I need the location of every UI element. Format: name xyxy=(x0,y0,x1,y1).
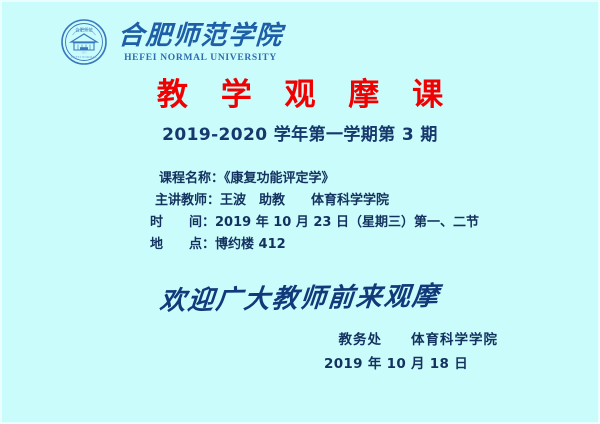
university-logo-header: 合肥师范 HEFEI NORMAL 1955 合肥师范学院 HEFEI NORM… xyxy=(60,18,283,66)
footer-organizations: 教务处 体育科学学院 xyxy=(339,332,499,348)
detail-location: 地 点：博约楼 412 xyxy=(150,234,450,256)
footer-date: 2019 年 10 月 18 日 xyxy=(324,356,498,372)
svg-text:HEFEI NORMAL: HEFEI NORMAL xyxy=(71,55,97,59)
university-seal-icon: 合肥师范 HEFEI NORMAL 1955 xyxy=(60,18,108,66)
detail-instructor: 主讲教师：王波 助教 体育科学学院 xyxy=(145,190,455,212)
notice-poster: 合肥师范 HEFEI NORMAL 1955 合肥师范学院 HEFEI NORM… xyxy=(0,0,600,424)
poster-footer: 教务处 体育科学学院 2019 年 10 月 18 日 xyxy=(2,328,598,376)
footer-org-line: 教务处 体育科学学院 xyxy=(210,328,540,352)
university-name-en: HEFEI NORMAL UNIVERSITY xyxy=(124,54,277,64)
svg-text:合肥师范: 合肥师范 xyxy=(75,26,93,33)
footer-date-line: 2019 年 10 月 18 日 xyxy=(210,352,540,376)
detail-time: 时 间：2019 年 10 月 23 日（星期三）第一、二节 xyxy=(150,212,450,234)
svg-text:1955: 1955 xyxy=(81,52,87,55)
course-details: 课程名称：《康复功能评定学》 主讲教师：王波 助教 体育科学学院 时 间：201… xyxy=(2,168,598,256)
page-subtitle: 2019-2020 学年第一学期第 3 期 xyxy=(2,120,598,145)
detail-course-name: 课程名称：《康复功能评定学》 xyxy=(141,168,459,190)
university-name-cn: 合肥师范学院 xyxy=(117,23,283,49)
welcome-message: 欢迎广大教师前来观摩 xyxy=(0,273,600,320)
university-wordmark: 合肥师范学院 HEFEI NORMAL UNIVERSITY xyxy=(118,21,283,64)
page-title: 教 学 观 摩 课 xyxy=(2,78,598,112)
